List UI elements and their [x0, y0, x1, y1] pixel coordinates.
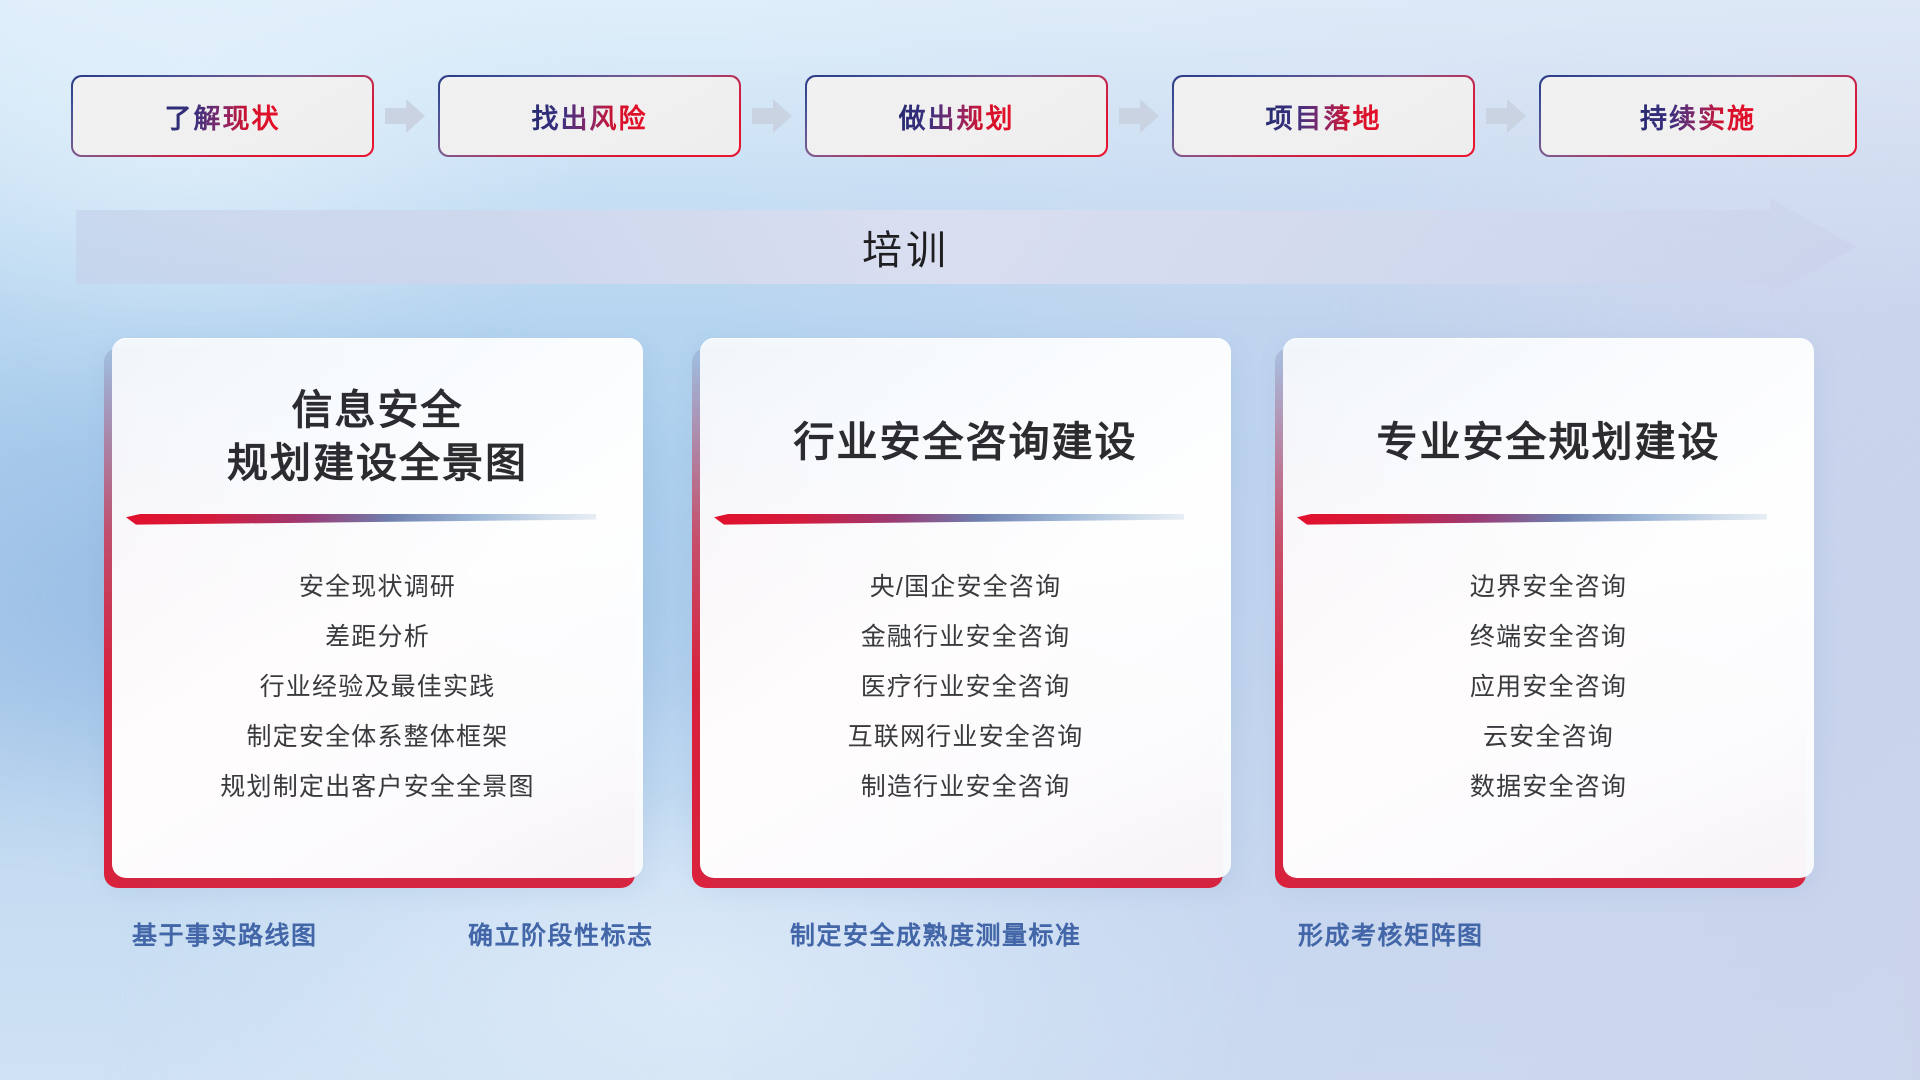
list-item: 医疗行业安全咨询 — [861, 662, 1071, 712]
list-item: 安全现状调研 — [299, 562, 456, 612]
footer-label-4: 形成考核矩阵图 — [1298, 916, 1484, 952]
card-surface: 信息安全 规划建设全景图 — [112, 338, 643, 878]
card-item-list: 安全现状调研 差距分析 行业经验及最佳实践 制定安全体系整体框架 规划制定出客户… — [112, 562, 643, 812]
footer-label-1: 基于事实路线图 — [132, 916, 318, 952]
list-item: 行业经验及最佳实践 — [260, 662, 496, 712]
card-divider — [126, 514, 596, 526]
card-title-line-1: 专业安全规划建设 — [1317, 416, 1780, 469]
card-item-list: 边界安全咨询 终端安全咨询 应用安全咨询 云安全咨询 数据安全咨询 — [1283, 562, 1814, 812]
list-item: 数据安全咨询 — [1470, 762, 1627, 812]
list-item: 云安全咨询 — [1483, 712, 1614, 762]
card-surface: 专业安全规划建设 — [1283, 338, 1814, 878]
list-item: 规划制定出客户安全全景图 — [220, 762, 534, 812]
card-surface: 行业安全咨询建设 — [700, 338, 1231, 878]
card-information-security-blueprint[interactable]: 信息安全 规划建设全景图 — [112, 338, 643, 878]
list-item: 终端安全咨询 — [1470, 612, 1627, 662]
list-item: 制定安全体系整体框架 — [246, 712, 508, 762]
card-item-list: 央/国企安全咨询 金融行业安全咨询 医疗行业安全咨询 互联网行业安全咨询 制造行… — [700, 562, 1231, 812]
card-industry-security-consulting[interactable]: 行业安全咨询建设 — [700, 338, 1231, 878]
footer-label-row: 基于事实路线图 确立阶段性标志 制定安全成熟度测量标准 形成考核矩阵图 — [0, 916, 1920, 960]
list-item: 应用安全咨询 — [1470, 662, 1627, 712]
footer-label-2: 确立阶段性标志 — [468, 916, 654, 952]
footer-label-3: 制定安全成熟度测量标准 — [790, 916, 1082, 952]
card-divider — [714, 514, 1184, 526]
list-item: 制造行业安全咨询 — [861, 762, 1071, 812]
card-professional-security-planning[interactable]: 专业安全规划建设 — [1283, 338, 1814, 878]
list-item: 边界安全咨询 — [1470, 562, 1627, 612]
card-title-line-1: 信息安全 — [146, 384, 609, 437]
card-title: 行业安全咨询建设 — [734, 364, 1197, 469]
card-title: 信息安全 规划建设全景图 — [146, 364, 609, 491]
card-title: 专业安全规划建设 — [1317, 364, 1780, 469]
list-item: 互联网行业安全咨询 — [848, 712, 1084, 762]
card-title-line-2: 规划建设全景图 — [146, 437, 609, 490]
list-item: 央/国企安全咨询 — [870, 562, 1062, 612]
list-item: 差距分析 — [325, 612, 430, 662]
card-divider — [1297, 514, 1767, 526]
card-title-line-1: 行业安全咨询建设 — [734, 416, 1197, 469]
list-item: 金融行业安全咨询 — [861, 612, 1071, 662]
